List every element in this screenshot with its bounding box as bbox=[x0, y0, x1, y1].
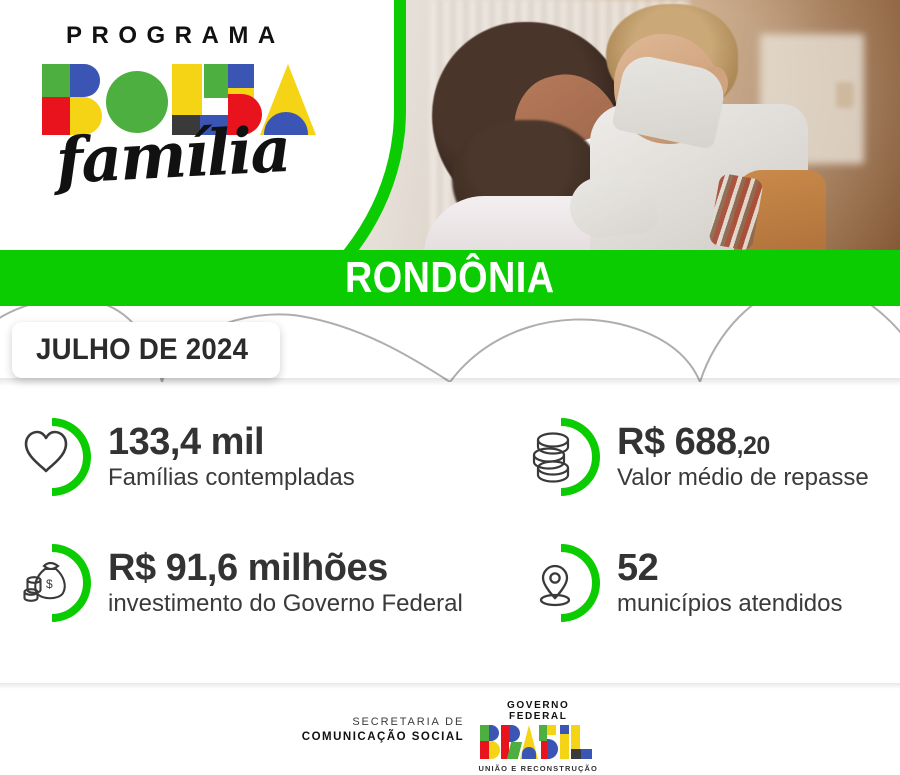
map-pin-icon bbox=[527, 540, 611, 626]
state-name: RONDÔNIA bbox=[345, 253, 554, 303]
governo-federal-logo: GOVERNO FEDERAL bbox=[478, 700, 598, 773]
logo-programa-word: PROGRAMA bbox=[66, 22, 322, 50]
stat-value: 52 bbox=[617, 549, 842, 588]
brasil-shape-l-yellow bbox=[571, 725, 580, 749]
stat-label: Valor médio de repasse bbox=[617, 464, 869, 492]
stat-label: investimento do Governo Federal bbox=[108, 590, 463, 618]
stat-value: R$ 91,6 milhões bbox=[108, 549, 463, 588]
brasil-shape-b-red bbox=[480, 741, 489, 759]
stat-text: 133,4 mil Famílias contempladas bbox=[108, 423, 355, 491]
hero-photo-area: PROGRAMA bbox=[0, 0, 900, 250]
stat-average-transfer: R$ 688,20 Valor médio de repasse bbox=[527, 414, 869, 500]
stat-investment: $ R$ 91,6 milhões investimento do Govern… bbox=[18, 540, 463, 626]
stat-text: R$ 688,20 Valor médio de repasse bbox=[617, 423, 869, 491]
stat-value: R$ 688,20 bbox=[617, 423, 869, 462]
brasil-shape-b-yellow bbox=[489, 741, 500, 759]
coins-icon bbox=[527, 414, 611, 500]
photo-door-knob bbox=[836, 82, 854, 108]
bolsa-familia-logo: PROGRAMA bbox=[42, 22, 322, 192]
stat-value: 133,4 mil bbox=[108, 423, 355, 462]
state-banner: RONDÔNIA bbox=[0, 250, 900, 306]
svg-text:$: $ bbox=[46, 577, 53, 591]
logo-shape-b-blue-arc bbox=[70, 64, 100, 97]
money-bag-icon: $ bbox=[18, 540, 102, 626]
stat-municipalities: 52 municípios atendidos bbox=[527, 540, 842, 626]
brasil-shape-l-blue bbox=[581, 749, 592, 759]
gov-federal-tagline: UNIÃO E RECONSTRUÇÃO bbox=[478, 764, 598, 773]
brasil-shape-i-blue bbox=[560, 725, 569, 734]
infographic-poster: PROGRAMA bbox=[0, 0, 900, 775]
brasil-shape-r-blue bbox=[509, 725, 520, 742]
logo-shape-b-green bbox=[42, 64, 70, 97]
brasil-shape-s-blue bbox=[547, 739, 558, 759]
footer-divider bbox=[0, 683, 900, 689]
date-tab: JULHO DE 2024 bbox=[12, 322, 280, 378]
band-bottom-shadow bbox=[0, 378, 900, 386]
gov-federal-label: GOVERNO FEDERAL bbox=[478, 700, 598, 722]
heart-icon bbox=[18, 414, 102, 500]
brasil-wordmark bbox=[480, 725, 596, 761]
footer: SECRETARIA DE COMUNICAÇÃO SOCIAL GOVERNO… bbox=[0, 700, 900, 775]
secom-line-2: COMUNICAÇÃO SOCIAL bbox=[302, 731, 464, 743]
stat-label: municípios atendidos bbox=[617, 590, 842, 618]
secom-line-1: SECRETARIA DE bbox=[302, 716, 464, 728]
logo-shape-s-blue bbox=[228, 64, 254, 88]
stat-text: R$ 91,6 milhões investimento do Governo … bbox=[108, 549, 463, 617]
brasil-shape-l-dark bbox=[571, 749, 581, 759]
brasil-shape-s-green bbox=[539, 725, 547, 741]
brasil-shape-b-blue bbox=[489, 725, 499, 741]
stat-label: Famílias contempladas bbox=[108, 464, 355, 492]
stat-families: 133,4 mil Famílias contempladas bbox=[18, 414, 355, 500]
logo-shape-l-yellow bbox=[172, 64, 202, 115]
date-label: JULHO DE 2024 bbox=[36, 333, 248, 367]
brasil-shape-a-blue bbox=[522, 747, 536, 759]
logo-shape-s-green bbox=[204, 64, 228, 98]
stats-grid: 133,4 mil Famílias contempladas bbox=[0, 392, 900, 660]
brasil-shape-b-green bbox=[480, 725, 489, 741]
brasil-shape-s-yellow bbox=[547, 725, 556, 735]
stat-text: 52 municípios atendidos bbox=[617, 549, 842, 617]
logo-familia-word: família bbox=[54, 112, 291, 198]
secom-logo: SECRETARIA DE COMUNICAÇÃO SOCIAL bbox=[302, 700, 464, 743]
